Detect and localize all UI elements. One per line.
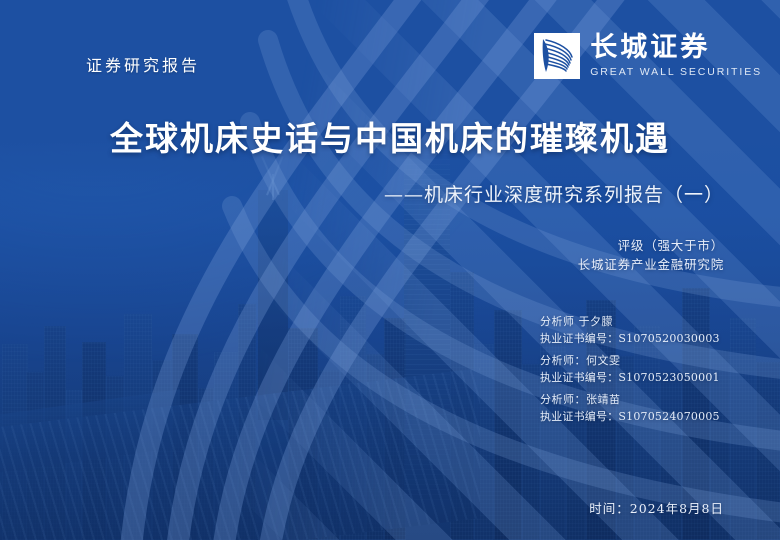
rating-label: 评级（强大于市） — [0, 236, 724, 255]
brand-logo: 长城证券 GREAT WALL SECURITIES — [534, 33, 762, 79]
brand-wordmark: 长城证券 GREAT WALL SECURITIES — [590, 34, 762, 77]
analyst-entry: 分析师：何文雯 执业证书编号：S1070523050001 — [540, 352, 720, 386]
analyst-cert: 执业证书编号：S1070520030003 — [540, 330, 720, 347]
brand-name-cn: 长城证券 — [590, 34, 762, 62]
top-flat-band — [0, 0, 780, 190]
report-cover-slide: 证券研究报告 长城证券 GREAT WALL SECURITIES — [0, 0, 780, 540]
analyst-list: 分析师 于夕朦 执业证书编号：S1070520030003 分析师：何文雯 执业… — [540, 313, 720, 430]
analyst-name: 分析师 于夕朦 — [540, 313, 720, 330]
page-subtitle: ——机床行业深度研究系列报告（一） — [0, 180, 780, 207]
brand-name-en: GREAT WALL SECURITIES — [590, 66, 762, 78]
analyst-entry: 分析师：张靖苗 执业证书编号：S1070524070005 — [540, 391, 720, 425]
analyst-name: 分析师：何文雯 — [540, 352, 720, 369]
analyst-cert: 执业证书编号：S1070523050001 — [540, 369, 720, 386]
publish-date: 时间：2024年8月8日 — [0, 498, 780, 517]
analyst-entry: 分析师 于夕朦 执业证书编号：S1070520030003 — [540, 313, 720, 347]
great-wall-arcs-icon — [534, 33, 580, 79]
page-title: 全球机床史话与中国机床的璀璨机遇 — [0, 112, 780, 160]
kicker-label: 证券研究报告 — [86, 52, 200, 76]
rating-block: 评级（强大于市） 长城证券产业金融研究院 — [0, 236, 780, 274]
institute-label: 长城证券产业金融研究院 — [0, 255, 724, 274]
analyst-cert: 执业证书编号：S1070524070005 — [540, 408, 720, 425]
analyst-name: 分析师：张靖苗 — [540, 391, 720, 408]
